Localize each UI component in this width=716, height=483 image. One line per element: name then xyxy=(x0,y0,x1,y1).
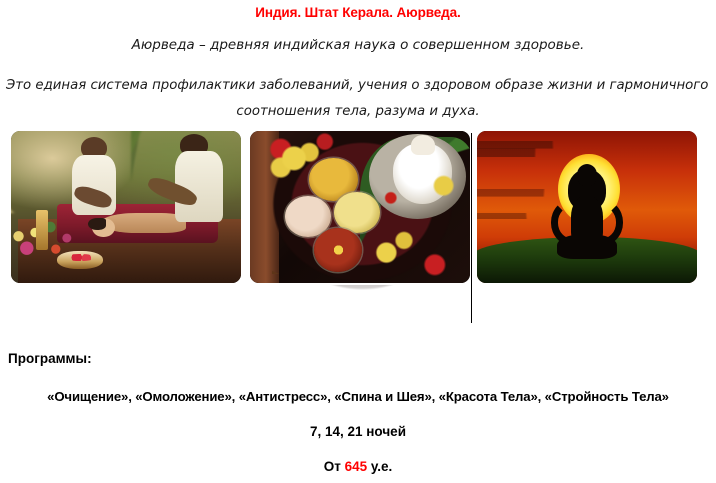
therapist-right xyxy=(172,134,227,256)
price-currency: у.е. xyxy=(371,459,392,474)
meditation-sunset-photo xyxy=(477,131,697,283)
ayurvedic-massage-photo xyxy=(11,131,241,283)
intro-lead: Аюрведа – древняя индийская наука о сове… xyxy=(0,36,716,54)
duration-text: 7, 14, 21 ночей xyxy=(0,424,716,439)
orchid-flowers xyxy=(250,131,470,283)
price-amount: 645 xyxy=(345,459,368,474)
petal-bowl xyxy=(57,251,103,269)
herbs-platter-scene xyxy=(250,131,470,283)
gallery-divider xyxy=(471,133,472,323)
massage-scene xyxy=(11,131,241,283)
intro-paragraph: Это единая система профилактики заболева… xyxy=(4,73,712,125)
price-line: От 645 у.е. xyxy=(0,459,716,474)
brass-lamp xyxy=(36,210,48,250)
massage-photo-reflection xyxy=(11,285,241,327)
photo-gallery xyxy=(0,131,716,327)
programs-label: Программы: xyxy=(8,351,92,366)
intro-paragraph-line-1: Это единая система профилактики заболева… xyxy=(6,73,712,99)
ayurvedic-herbs-platter-photo xyxy=(250,131,470,283)
meditation-photo-reflection xyxy=(477,285,697,327)
intro-paragraph-line-2: соотношения тела, разума и духа. xyxy=(4,99,712,125)
programs-list: «Очищение», «Омоложение», «Антистресс», … xyxy=(0,389,716,404)
sunset-scene xyxy=(477,131,697,283)
price-prefix: От xyxy=(324,459,341,474)
meditating-figure xyxy=(550,164,625,258)
herbs-platter-photo-reflection xyxy=(250,285,470,327)
page-title: Индия. Штат Керала. Аюрведа. xyxy=(0,5,716,21)
